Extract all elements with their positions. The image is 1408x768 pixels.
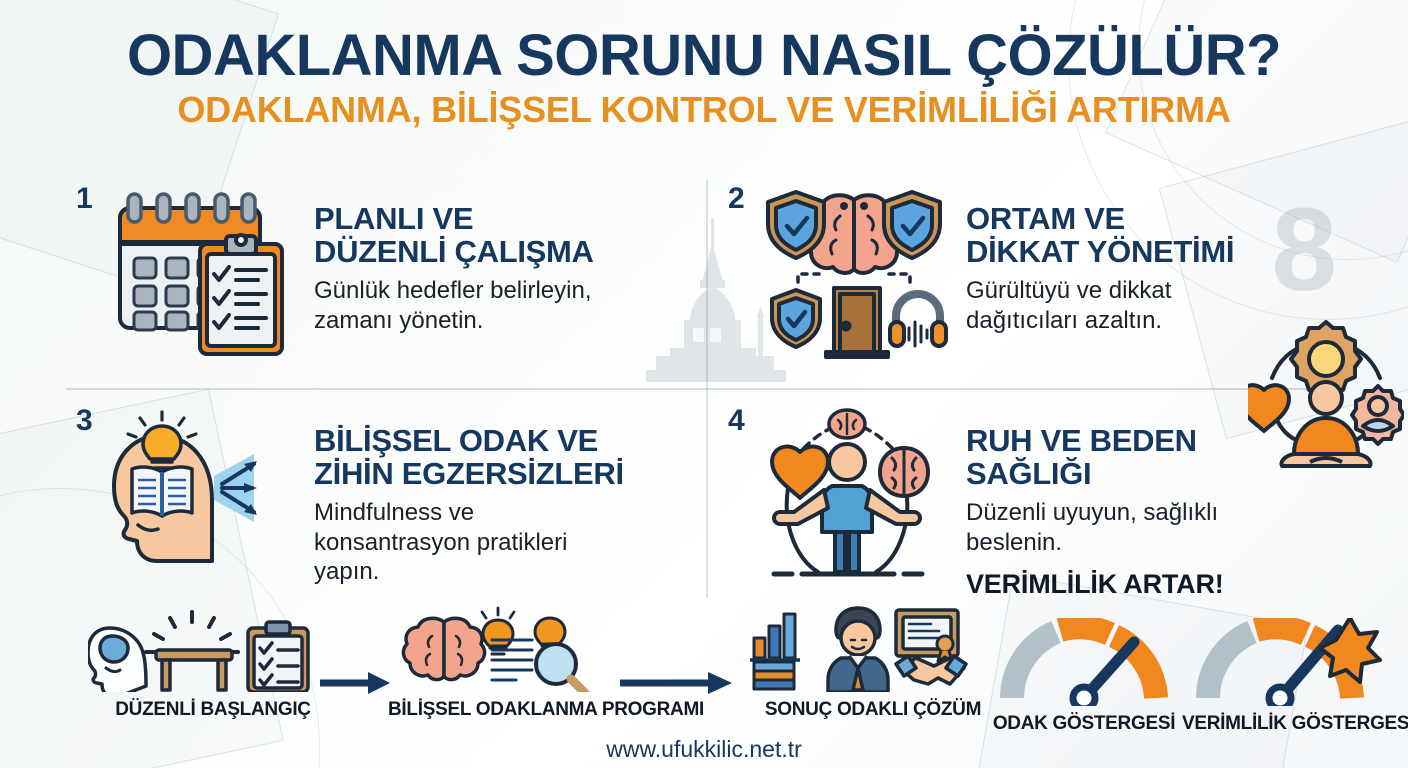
- tip-desc-line1: Gürültüyü ve dikkat: [966, 277, 1171, 304]
- tip-heading: BİLİŞSEL ODAK VE ZİHİN EGZERSİZLERİ: [314, 424, 696, 490]
- tip-desc-line1: Mindfulness ve: [314, 499, 474, 526]
- person-heart-brain-balance-icon: [756, 404, 952, 584]
- star-icon: [1320, 618, 1380, 682]
- tip-card-3: 3: [76, 404, 696, 586]
- flow-step-label: BİLİŞSEL ODAKLANMA PROGRAMI: [366, 699, 726, 721]
- tip-desc-line1: Günlük hedefler belirleyin,: [314, 277, 592, 304]
- tip-text-1: PLANLI VE DÜZENLİ ÇALIŞMA Günlük hedefle…: [300, 182, 696, 335]
- flow-step-3: SONUÇ ODAKLI ÇÖZÜM: [748, 606, 998, 721]
- flow-step-2: BİLİŞSEL ODAKLANMA PROGRAMI: [366, 606, 726, 721]
- tip-heading-line1: PLANLI VE: [314, 201, 473, 236]
- head-desk-checklist-icon: [88, 606, 338, 692]
- tip-number: 1: [76, 182, 104, 214]
- tip-heading-line1: RUH VE BEDEN: [966, 423, 1197, 458]
- tip-heading-line1: BİLİŞSEL ODAK VE: [314, 423, 598, 458]
- tip-number: 4: [728, 404, 756, 436]
- tip-heading-line2: ZİHİN EGZERSİZLERİ: [314, 456, 624, 491]
- tip-desc-line3: yapın.: [314, 558, 379, 585]
- tip-heading: PLANLI VE DÜZENLİ ÇALIŞMA: [314, 202, 696, 268]
- tip-number: 2: [728, 182, 756, 214]
- tip-desc-line1: Düzenli uyuyun, sağlıklı: [966, 499, 1218, 526]
- gauge-icon: [986, 618, 1182, 706]
- tip-heading-line2: SAĞLIĞI: [966, 456, 1091, 491]
- website-url[interactable]: www.ufukkilic.net.tr: [0, 736, 1408, 763]
- flow-step-label: SONUÇ ODAKLI ÇÖZÜM: [748, 699, 998, 721]
- tip-heading: ORTAM VE DİKKAT YÖNETİMİ: [966, 202, 1368, 268]
- tip-description: Günlük hedefler belirleyin, zamanı yönet…: [314, 276, 696, 335]
- brain-shields-door-headphones-icon: [756, 182, 952, 362]
- gauge-productivity: VERİMLİLİK GÖSTERGESİ: [1182, 618, 1404, 735]
- flow-step-label: DÜZENLİ BAŞLANGIÇ: [88, 699, 338, 721]
- gauge-icon: [1182, 618, 1404, 706]
- head-book-lightbulb-icon: [104, 404, 300, 584]
- tip-text-3: BİLİŞSEL ODAK VE ZİHİN EGZERSİZLERİ Mind…: [300, 404, 696, 586]
- tip-number: 3: [76, 404, 104, 436]
- tip-text-2: ORTAM VE DİKKAT YÖNETİMİ Gürültüyü ve di…: [952, 182, 1368, 335]
- wellness-meditation-icon: [1248, 316, 1404, 477]
- graduate-chart-handshake-icon: [748, 606, 998, 692]
- flow-step-1: DÜZENLİ BAŞLANGIÇ: [88, 606, 338, 721]
- tip-description: Düzenli uyuyun, sağlıklı beslenin.: [966, 498, 1368, 557]
- tip-description: Mindfulness ve konsantrasyon pratikleri …: [314, 498, 696, 586]
- productivity-callout: VERİMLİLİK ARTAR!: [966, 569, 1368, 600]
- arrow-right-icon: [620, 672, 732, 694]
- tip-desc-line2: beslenin.: [966, 529, 1062, 556]
- gauge-label: ODAK GÖSTERGESİ: [986, 713, 1182, 735]
- gauge-focus: ODAK GÖSTERGESİ: [986, 618, 1182, 735]
- tip-heading-line2: DÜZENLİ ÇALIŞMA: [314, 234, 594, 269]
- tip-desc-line2: zamanı yönetin.: [314, 307, 483, 334]
- tip-card-1: 1: [76, 182, 696, 362]
- gauge-label: VERİMLİLİK GÖSTERGESİ: [1182, 713, 1404, 735]
- calendar-clipboard-icon: [104, 182, 300, 362]
- tip-desc-line2: dağıtıcıları azaltın.: [966, 307, 1162, 334]
- tip-desc-line2: konsantrasyon pratikleri: [314, 529, 567, 556]
- tip-heading-line1: ORTAM VE: [966, 201, 1125, 236]
- tip-heading-line2: DİKKAT YÖNETİMİ: [966, 234, 1234, 269]
